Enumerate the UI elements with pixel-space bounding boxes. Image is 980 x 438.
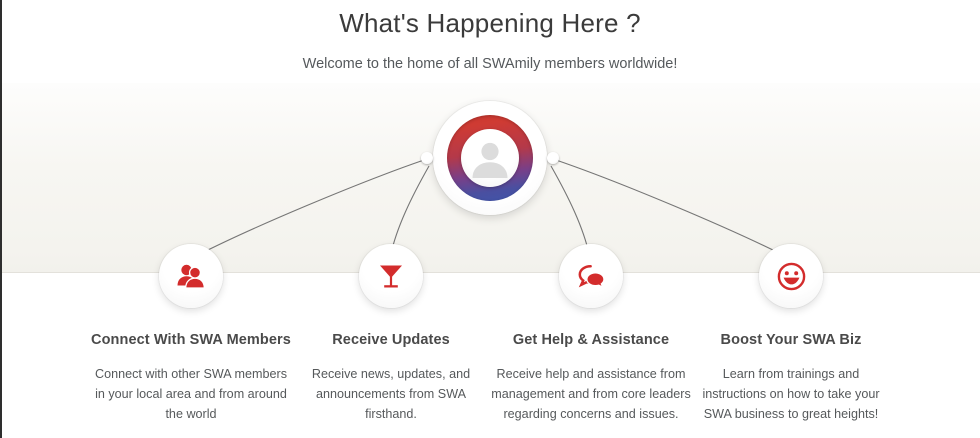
- smiley-face-icon: [777, 262, 806, 291]
- feature-body-4: Learn from trainings and instructions on…: [691, 350, 891, 424]
- feature-title-1: Connect With SWA Members: [91, 330, 291, 350]
- central-hub: [433, 101, 547, 215]
- feature-column-1: Connect With SWA Members Connect with ot…: [91, 330, 291, 424]
- hub-connector-node-right: [547, 152, 559, 164]
- cocktail-glass-icon: [378, 262, 404, 290]
- chat-bubbles-icon: [576, 263, 606, 290]
- feature-title-4: Boost Your SWA Biz: [691, 330, 891, 350]
- feature-icon-circle-4[interactable]: [759, 244, 823, 308]
- viewport-left-edge: [0, 0, 2, 438]
- page-title: What's Happening Here ?: [0, 0, 980, 40]
- feature-column-4: Boost Your SWA Biz Learn from trainings …: [691, 330, 891, 424]
- hub-connector-node-left: [421, 152, 433, 164]
- feature-body-2: Receive news, updates, and announcements…: [291, 350, 491, 424]
- feature-body-3: Receive help and assistance from managem…: [491, 350, 691, 424]
- feature-column-2: Receive Updates Receive news, updates, a…: [291, 330, 491, 424]
- header: What's Happening Here ? Welcome to the h…: [0, 0, 980, 74]
- feature-body-1: Connect with other SWA members in your l…: [91, 350, 291, 424]
- feature-title-2: Receive Updates: [291, 330, 491, 350]
- two-users-icon: [176, 263, 206, 289]
- page-root: What's Happening Here ? Welcome to the h…: [0, 0, 980, 438]
- user-avatar-icon: [461, 129, 519, 187]
- feature-title-3: Get Help & Assistance: [491, 330, 691, 350]
- feature-icon-circle-2[interactable]: [359, 244, 423, 308]
- feature-columns: Connect With SWA Members Connect with ot…: [2, 330, 980, 424]
- feature-icon-circle-1[interactable]: [159, 244, 223, 308]
- page-subtitle: Welcome to the home of all SWAmily membe…: [0, 40, 980, 74]
- feature-icon-circle-3[interactable]: [559, 244, 623, 308]
- feature-column-3: Get Help & Assistance Receive help and a…: [491, 330, 691, 424]
